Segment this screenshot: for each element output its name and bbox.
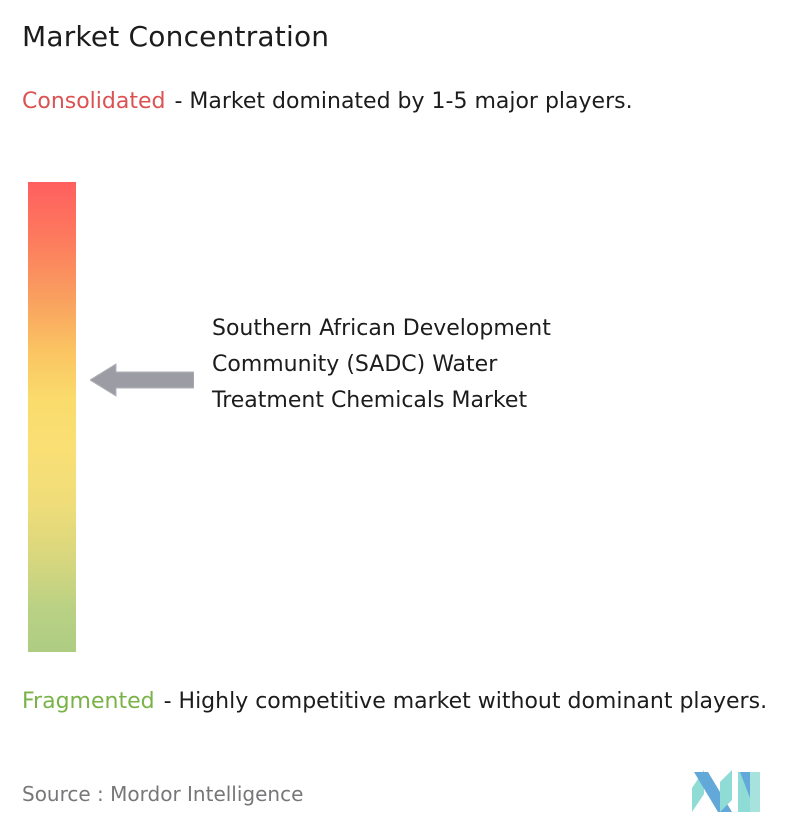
fragmented-keyword: Fragmented — [22, 689, 155, 714]
page-title: Market Concentration — [22, 20, 329, 53]
fragmented-caption: Fragmented- Highly competitive market wi… — [22, 686, 787, 718]
consolidated-caption: Consolidated- Market dominated by 1-5 ma… — [22, 86, 762, 118]
arrow-left-icon — [90, 362, 194, 398]
consolidated-keyword: Consolidated — [22, 89, 165, 114]
source-label: Source : — [22, 782, 104, 806]
concentration-gradient-bar — [28, 182, 76, 652]
source-value: Mordor Intelligence — [110, 782, 303, 806]
market-name-label: Southern African Development Community (… — [212, 311, 612, 419]
fragmented-description: - Highly competitive market without domi… — [164, 689, 767, 714]
source-line: Source : Mordor Intelligence — [22, 782, 303, 806]
consolidated-description: - Market dominated by 1-5 major players. — [174, 89, 632, 114]
mordor-intelligence-logo — [692, 770, 760, 812]
market-concentration-infographic: Market Concentration Consolidated- Marke… — [0, 0, 796, 834]
